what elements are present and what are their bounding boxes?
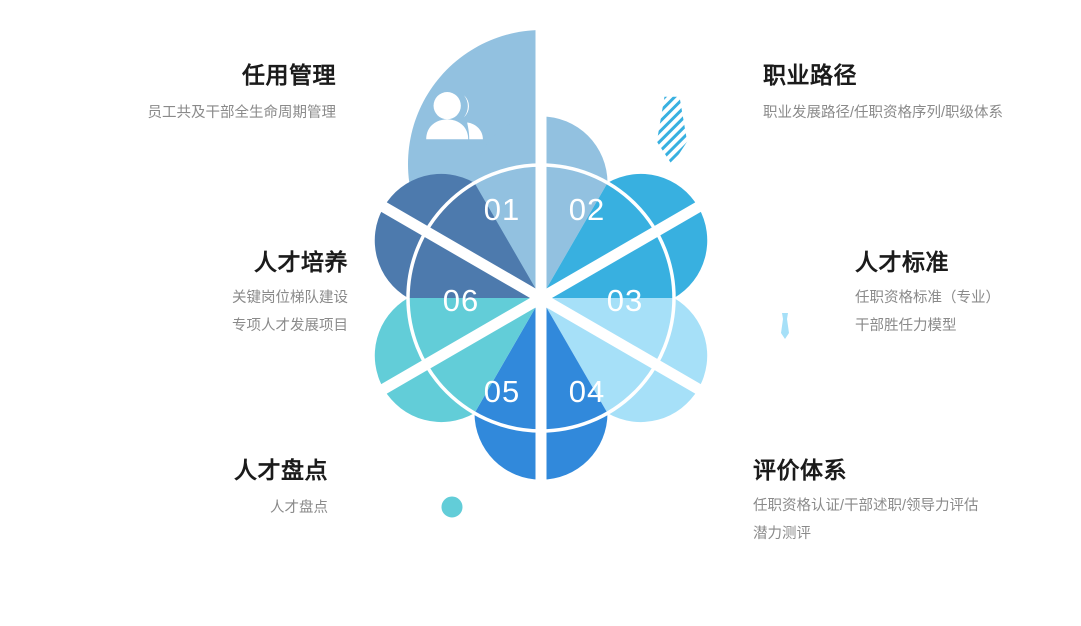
label-title-02: 职业路径 bbox=[763, 60, 1081, 91]
label-line-01-0: 员工共及干部全生命周期管理 bbox=[16, 99, 336, 127]
label-line-03-1: 干部胜任力模型 bbox=[855, 312, 1081, 340]
label-line-06-0: 关键岗位梯队建设 bbox=[28, 284, 348, 312]
label-line-04-1: 潜力测评 bbox=[753, 520, 1073, 548]
label-line-02-0: 职业发展路径/任职资格序列/职级体系 bbox=[763, 99, 1081, 127]
label-title-06: 人才培养 bbox=[28, 247, 348, 278]
petal-number-04: 04 bbox=[569, 374, 605, 409]
necktie-icon bbox=[655, 76, 689, 168]
document-search-icon bbox=[415, 460, 468, 534]
label-title-04: 评价体系 bbox=[753, 455, 1073, 486]
label-line-06-1: 专项人才发展项目 bbox=[28, 312, 348, 340]
label-title-05: 人才盘点 bbox=[8, 455, 328, 486]
label-block-04: 评价体系 任职资格认证/干部述职/领导力评估 潜力测评 bbox=[753, 455, 1073, 549]
edit-square-icon bbox=[634, 464, 696, 524]
label-block-02: 职业路径 职业发展路径/任职资格序列/职级体系 bbox=[763, 60, 1081, 127]
petal-number-06: 06 bbox=[443, 283, 479, 318]
label-block-01: 任用管理 员工共及干部全生命周期管理 bbox=[16, 60, 336, 127]
petal-number-03: 03 bbox=[607, 283, 643, 318]
petal-number-05: 05 bbox=[484, 374, 520, 409]
label-line-03-0: 任职资格标准（专业） bbox=[855, 284, 1081, 312]
label-line-05-0: 人才盘点 bbox=[8, 494, 328, 522]
label-block-06: 人才培养 关键岗位梯队建设 专项人才发展项目 bbox=[28, 247, 348, 341]
label-title-01: 任用管理 bbox=[16, 60, 336, 91]
label-title-03: 人才标准 bbox=[855, 247, 1081, 278]
petal-number-01: 01 bbox=[484, 192, 520, 227]
diagram-canvas: 01 02 03 04 05 06 bbox=[0, 0, 1081, 626]
label-block-05: 人才盘点 人才盘点 bbox=[8, 455, 328, 522]
label-block-03: 人才标准 任职资格标准（专业） 干部胜任力模型 bbox=[855, 247, 1081, 341]
petal-dividers bbox=[306, 27, 776, 569]
label-line-04-0: 任职资格认证/干部述职/领导力评估 bbox=[753, 492, 1073, 520]
business-person-icon bbox=[761, 278, 809, 340]
petal-number-02: 02 bbox=[569, 192, 605, 227]
